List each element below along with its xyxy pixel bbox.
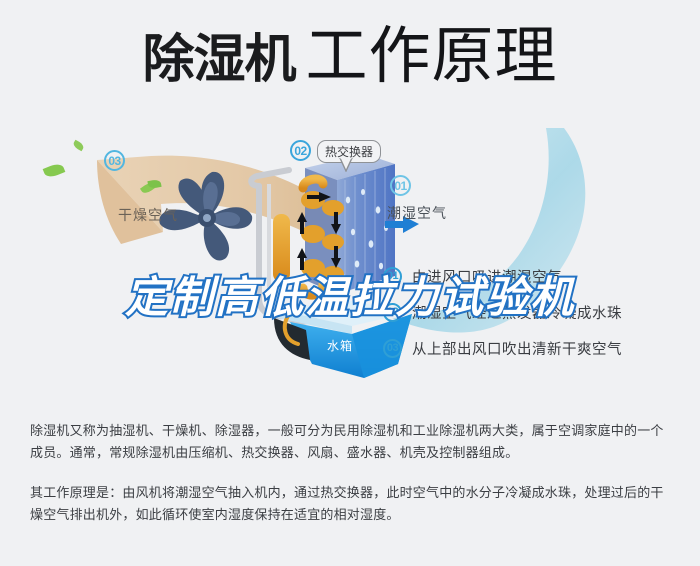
watermark-overlay: 定制高低温拉力试验机 bbox=[0, 263, 700, 325]
page-title-part1: 除湿机 bbox=[142, 31, 295, 89]
label-dry-air: 干燥空气 bbox=[118, 205, 178, 225]
label-humid-air: 潮湿空气 bbox=[387, 203, 447, 223]
description-block: 除湿机又称为抽湿机、干燥机、除湿器，一般可分为民用除湿机和工业除湿机两大类，属于… bbox=[30, 420, 675, 526]
list-item: 03 从上部出风口吹出清新干爽空气 bbox=[383, 330, 683, 366]
label-water-tank: 水箱 bbox=[327, 337, 353, 354]
badge-01: 01 bbox=[390, 175, 411, 196]
page-title: 除湿机工作原理 bbox=[0, 26, 700, 88]
page-title-part2: 工作原理 bbox=[306, 22, 558, 91]
step-number: 03 bbox=[383, 339, 402, 358]
badge-03: 03 bbox=[104, 150, 125, 171]
step-text: 从上部出风口吹出清新干爽空气 bbox=[412, 338, 622, 359]
callout-pointer-icon bbox=[339, 158, 353, 172]
paragraph-2: 其工作原理是：由风机将潮湿空气抽入机内，通过热交换器，此时空气中的水分子冷凝成水… bbox=[30, 482, 675, 526]
paragraph-1: 除湿机又称为抽湿机、干燥机、除湿器，一般可分为民用除湿机和工业除湿机两大类，属于… bbox=[30, 420, 675, 464]
page-root: 除湿机工作原理 bbox=[0, 0, 700, 566]
watermark-text: 定制高低温拉力试验机 bbox=[125, 274, 575, 322]
badge-02: 02 bbox=[290, 140, 311, 161]
